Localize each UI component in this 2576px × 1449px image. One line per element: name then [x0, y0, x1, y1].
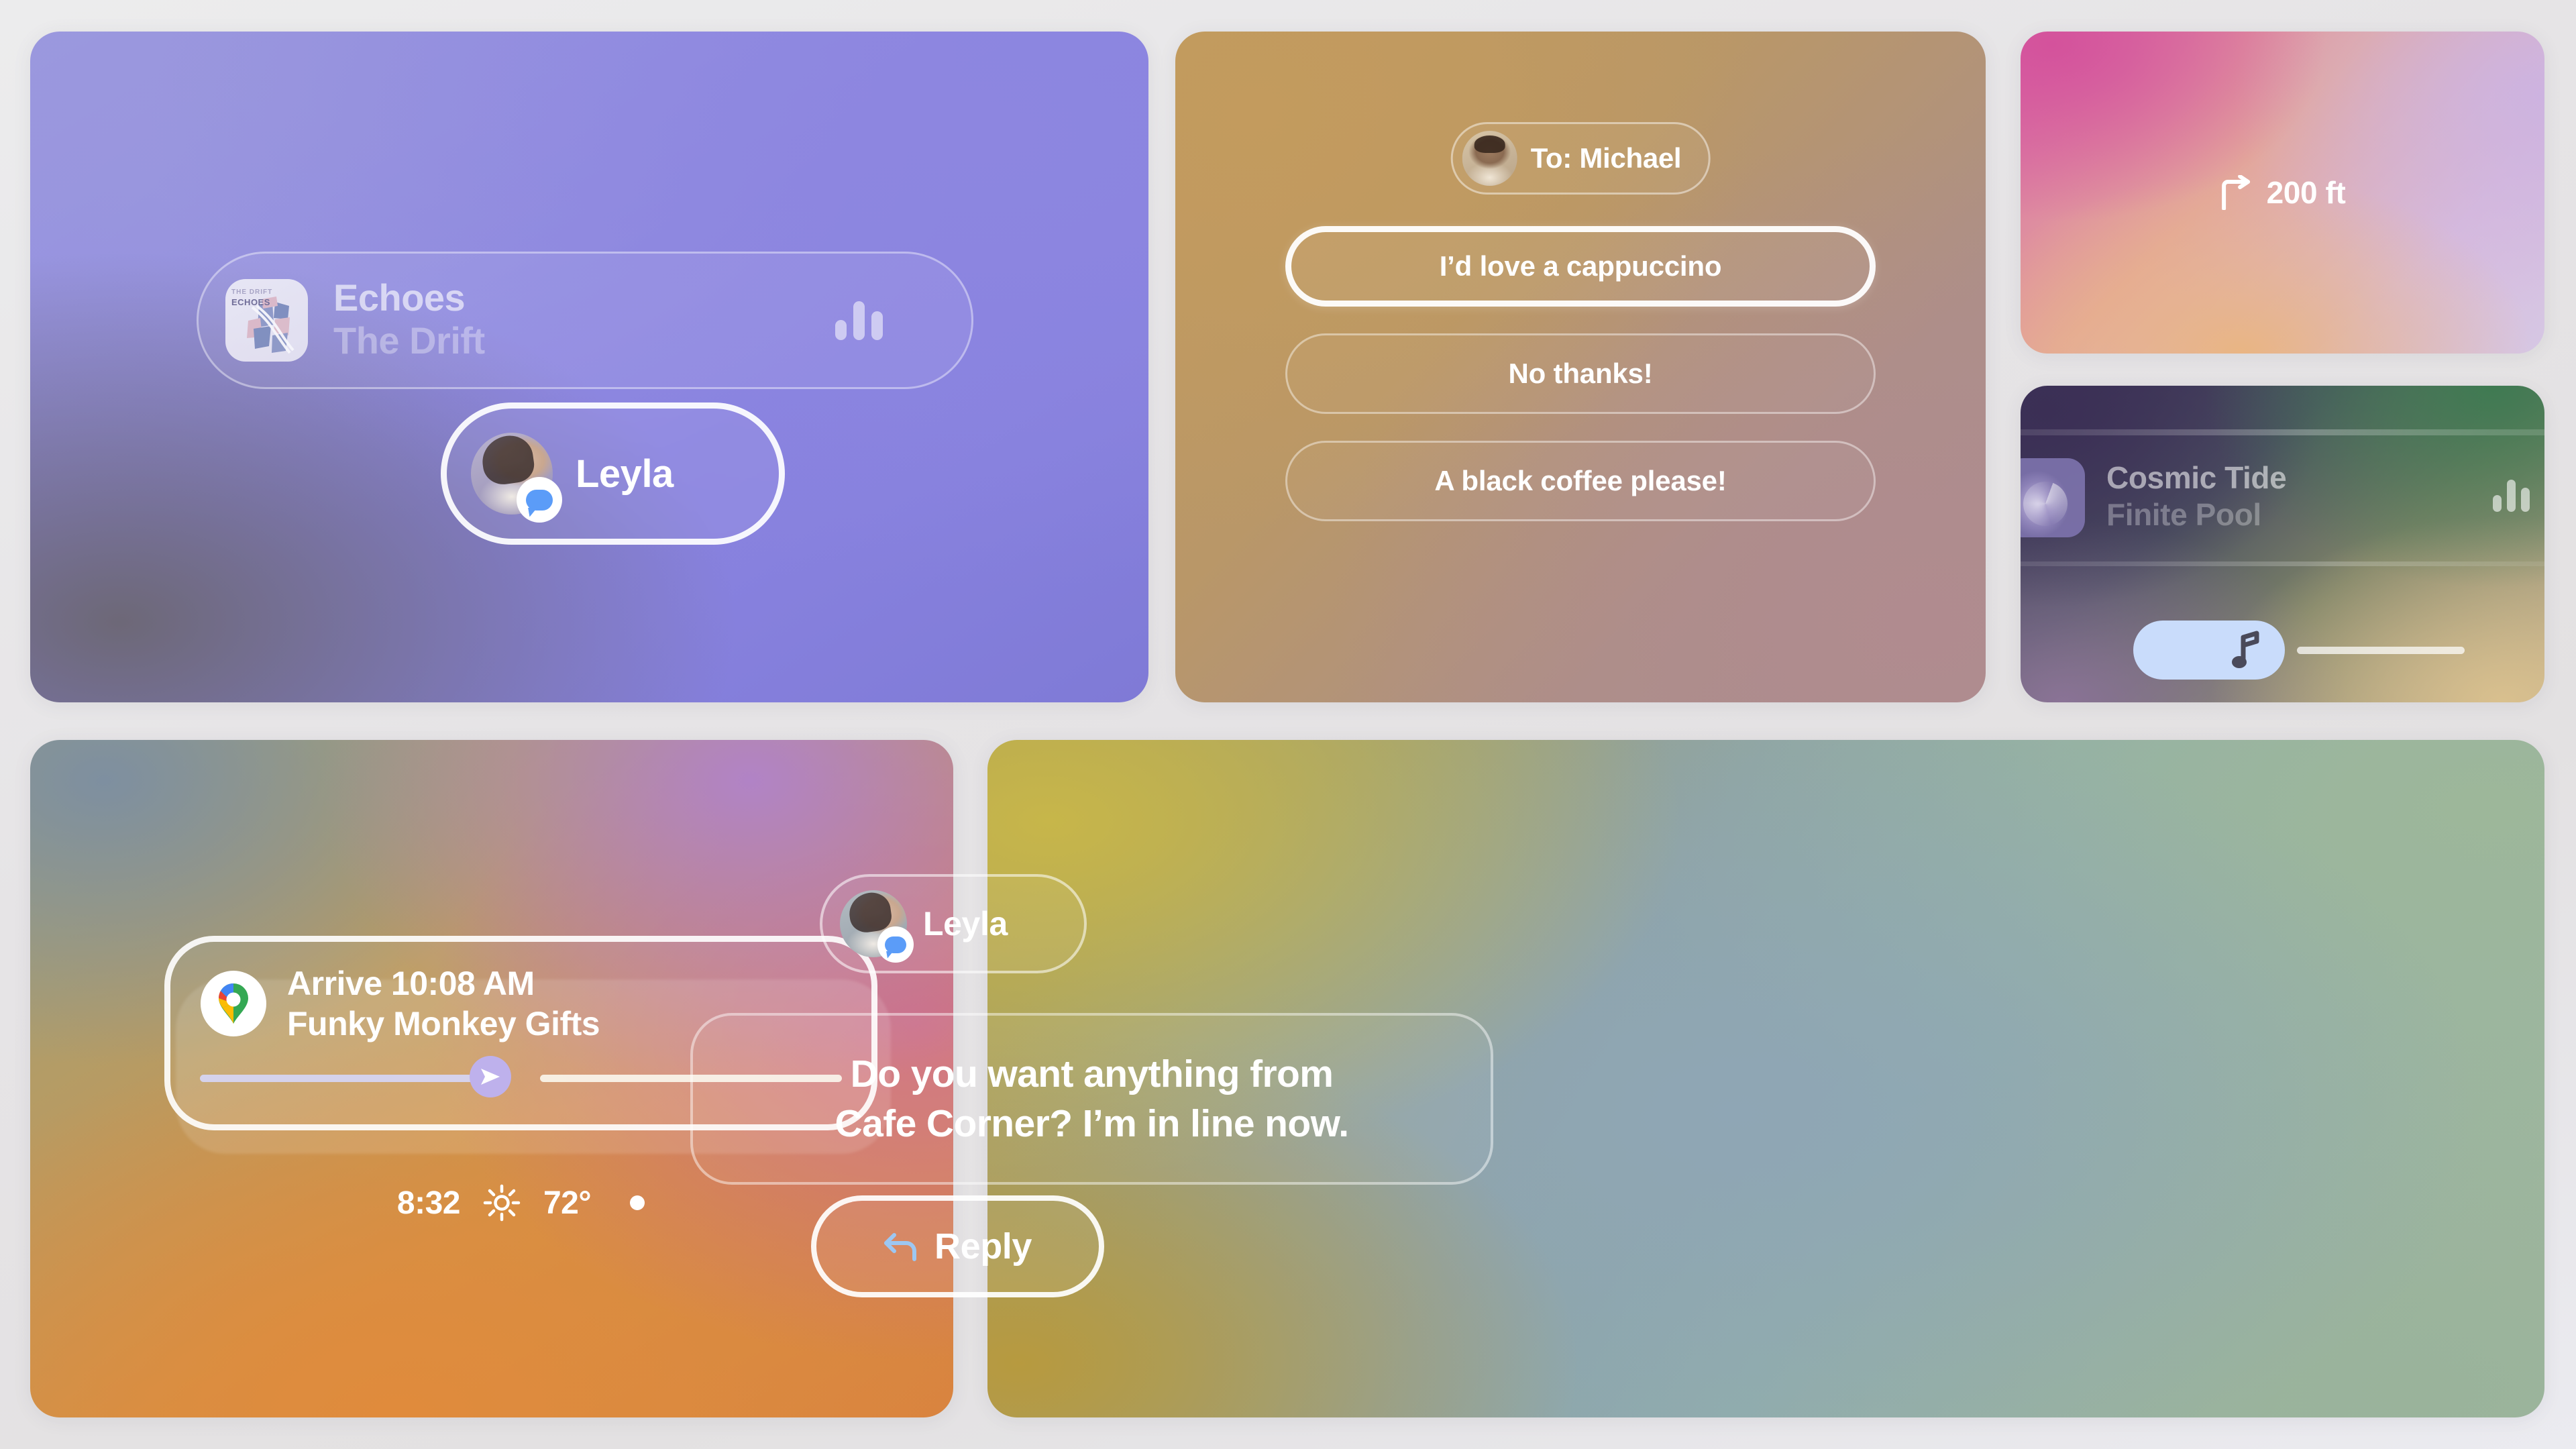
- navigation-arrow-icon: [479, 1067, 502, 1087]
- navigation-distance-card[interactable]: 200 ft: [2021, 32, 2544, 354]
- equalizer-icon: [835, 301, 883, 340]
- album-art-thumbnail: [2021, 458, 2085, 537]
- avatar: [1462, 131, 1517, 186]
- track-title: Echoes: [333, 278, 485, 318]
- reply-option-label: No thanks!: [1508, 358, 1652, 390]
- reply-option-2[interactable]: A black coffee please!: [1285, 441, 1876, 521]
- turn-right-icon: [2220, 175, 2252, 210]
- media-player-card[interactable]: Cosmic Tide Finite Pool: [2021, 386, 2544, 702]
- now-playing-text: Echoes The Drift: [333, 278, 485, 362]
- eta-destination: Funky Monkey Gifts: [287, 1005, 600, 1042]
- navigation-distance: 200 ft: [2267, 174, 2346, 211]
- track-title: Cosmic Tide: [2106, 461, 2286, 495]
- reply-button-label: Reply: [934, 1226, 1032, 1267]
- message-body: Do you want anything from Cafe Corner? I…: [806, 1049, 1379, 1148]
- google-maps-pin-icon: [200, 970, 267, 1037]
- progress-track-filled: [200, 1075, 476, 1082]
- reply-option-label: A black coffee please!: [1434, 465, 1726, 497]
- status-temperature: 72°: [543, 1185, 591, 1222]
- now-playing-card[interactable]: THE DRIFT ECHOES Echoes The Drift Leyla: [30, 32, 1148, 702]
- track-artist: The Drift: [333, 319, 485, 362]
- message-bubble: Do you want anything from Cafe Corner? I…: [690, 1013, 1493, 1185]
- home-screen: THE DRIFT ECHOES Echoes The Drift Leyla …: [0, 0, 2576, 1449]
- equalizer-icon: [2493, 480, 2530, 512]
- eta-text: Arrive 10:08 AM Funky Monkey Gifts: [287, 965, 600, 1042]
- track-artist: Finite Pool: [2106, 496, 2286, 533]
- status-time: 8:32: [397, 1185, 460, 1222]
- player-controls-row[interactable]: [2133, 621, 2465, 680]
- album-art-label-top: THE DRIFT: [231, 288, 272, 296]
- reply-button[interactable]: Reply: [811, 1195, 1104, 1297]
- status-row: 8:32 72°: [164, 1184, 877, 1222]
- avatar: [471, 433, 553, 515]
- message-bubble-icon: [877, 926, 914, 963]
- message-bubble-icon: [517, 477, 562, 523]
- reply-option-label: I’d love a cappuccino: [1440, 250, 1722, 282]
- reply-option-1[interactable]: No thanks!: [1285, 333, 1876, 414]
- suggested-replies-card[interactable]: To: Michael I’d love a cappuccino No tha…: [1175, 32, 1986, 702]
- avatar: [840, 890, 907, 957]
- album-art-label-bottom: ECHOES: [231, 297, 270, 307]
- player-text: Cosmic Tide Finite Pool: [2106, 461, 2286, 533]
- eta-arrival-time: Arrive 10:08 AM: [287, 965, 600, 1002]
- progress-handle[interactable]: [470, 1056, 511, 1097]
- caller-name: Leyla: [576, 451, 674, 496]
- card-seam-top: [2021, 429, 2544, 435]
- recipient-pill[interactable]: To: Michael: [1451, 122, 1711, 195]
- message-sender-pill[interactable]: Leyla: [820, 874, 1087, 973]
- message-sender-name: Leyla: [923, 904, 1008, 943]
- music-note-pill[interactable]: [2133, 621, 2285, 680]
- recipient-label: To: Michael: [1531, 142, 1682, 174]
- playback-track[interactable]: [2297, 647, 2465, 654]
- music-note-icon: [2231, 631, 2262, 669]
- album-art-thumbnail: THE DRIFT ECHOES: [225, 279, 308, 362]
- dot-indicator-icon: [630, 1195, 645, 1210]
- sun-icon: [483, 1184, 521, 1222]
- reply-option-0[interactable]: I’d love a cappuccino: [1285, 226, 1876, 307]
- now-playing-pill[interactable]: THE DRIFT ECHOES Echoes The Drift: [197, 252, 973, 389]
- navigation-inner: 200 ft: [2220, 174, 2346, 211]
- caller-pill[interactable]: Leyla: [441, 402, 785, 545]
- reply-arrow-icon: [883, 1231, 918, 1262]
- card-seam-mid: [2021, 561, 2544, 566]
